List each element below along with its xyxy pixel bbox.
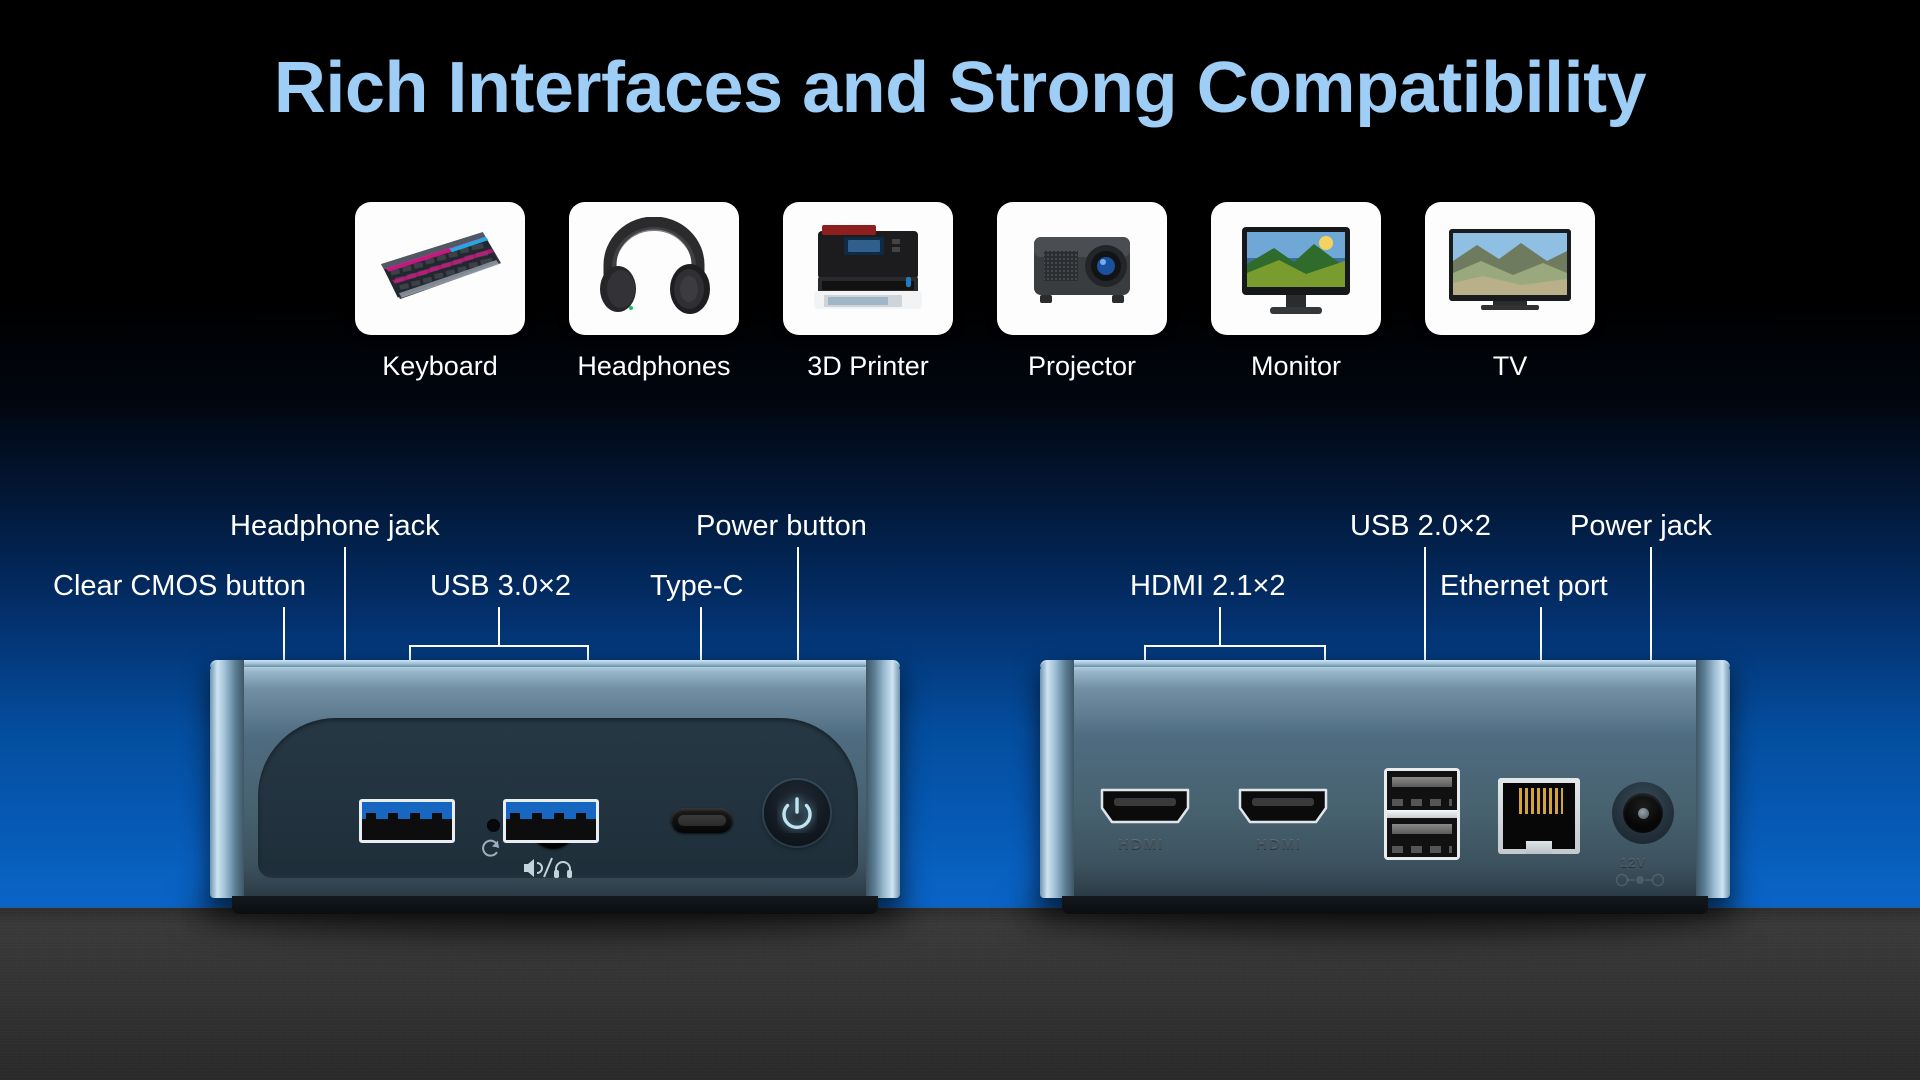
callout-clear-cmos-button: Clear CMOS button xyxy=(53,572,306,601)
monitor-icon xyxy=(1234,217,1358,321)
compat-item-3d-printer[interactable]: 3D Printer xyxy=(783,202,953,382)
compat-item-keyboard[interactable]: Keyboard xyxy=(355,202,525,382)
compat-label: Headphones xyxy=(577,351,730,382)
compat-item-headphones[interactable]: Headphones xyxy=(569,202,739,382)
chassis-top-lip xyxy=(1040,660,1730,667)
chassis-right-edge xyxy=(1696,660,1730,898)
callout-power-button: Power button xyxy=(696,512,867,541)
compat-item-projector[interactable]: Projector xyxy=(997,202,1167,382)
callout-type-c: Type-C xyxy=(650,572,743,601)
chassis-left-edge xyxy=(1040,660,1074,898)
callout-usb-3: USB 3.0×2 xyxy=(430,572,571,601)
callout-usb-2: USB 2.0×2 xyxy=(1350,512,1491,541)
hdmi-port-2-label: HDMI xyxy=(1256,836,1302,853)
compatibility-icon-row: Keyboard Headphones xyxy=(355,202,1575,382)
compat-label: Monitor xyxy=(1251,351,1341,382)
leader-usb3-bar xyxy=(409,645,589,647)
compat-label: Projector xyxy=(1028,351,1136,382)
projector-card xyxy=(997,202,1167,335)
front-chassis xyxy=(210,660,900,898)
monitor-card xyxy=(1211,202,1381,335)
usb3-port-1-tongue xyxy=(362,802,452,819)
front-device-foot xyxy=(232,896,878,914)
usb2-port-stack[interactable] xyxy=(1384,768,1460,860)
hdmi-port-2[interactable] xyxy=(1236,786,1330,826)
usb2-upper-pins xyxy=(1392,799,1452,806)
hdmi-port-1-label: HDMI xyxy=(1118,836,1164,853)
rj45-latch-notch xyxy=(1526,841,1552,854)
chassis-right-edge xyxy=(866,660,900,898)
type-c-port[interactable] xyxy=(671,808,733,833)
chassis-gloss xyxy=(1074,667,1696,735)
projector-icon xyxy=(1018,221,1146,317)
callout-hdmi: HDMI 2.1×2 xyxy=(1130,572,1286,601)
usb2-port-upper[interactable] xyxy=(1387,771,1457,810)
compat-item-monitor[interactable]: Monitor xyxy=(1211,202,1381,382)
headphones-icon xyxy=(594,217,714,321)
mini-pc-front-device xyxy=(210,660,900,910)
clear-cmos-reset-icon xyxy=(480,838,506,862)
rear-device-foot xyxy=(1062,896,1708,914)
usb3-port-2-tongue xyxy=(506,802,596,819)
rj45-gold-pins xyxy=(1519,788,1563,814)
power-button[interactable] xyxy=(764,780,830,846)
usb2-port-lower[interactable] xyxy=(1387,818,1457,857)
usb2-upper-tongue xyxy=(1392,777,1452,787)
tv-card xyxy=(1425,202,1595,335)
callout-power-jack: Power jack xyxy=(1570,512,1712,541)
compat-label: 3D Printer xyxy=(807,351,929,382)
usb2-divider xyxy=(1387,810,1457,818)
hdmi-port-1[interactable] xyxy=(1098,786,1192,826)
audio-speaker-headphone-icon xyxy=(522,856,584,880)
product-infographic: Rich Interfaces and Strong Compatibility xyxy=(0,0,1920,1080)
usb3-port-2[interactable] xyxy=(503,799,599,843)
usb2-lower-pins xyxy=(1392,846,1452,853)
power-jack-barrel xyxy=(1623,793,1663,833)
callout-ethernet-port: Ethernet port xyxy=(1440,572,1608,601)
usb3-port-1[interactable] xyxy=(359,799,455,843)
power-jack-center-pin xyxy=(1638,808,1649,819)
compat-label: TV xyxy=(1493,351,1528,382)
headphones-card xyxy=(569,202,739,335)
clear-cmos-pinhole[interactable] xyxy=(487,819,500,832)
printer-card xyxy=(783,202,953,335)
ethernet-rj45-port[interactable] xyxy=(1498,778,1580,854)
power-jack-port[interactable] xyxy=(1612,782,1674,844)
usb2-lower-tongue xyxy=(1392,824,1452,834)
keyboard-icon xyxy=(370,219,510,319)
chassis-top-lip xyxy=(210,660,900,667)
background-floor xyxy=(0,908,1920,1080)
leader-hdmi-bar xyxy=(1144,645,1326,647)
power-symbol-icon xyxy=(777,793,817,833)
power-jack-voltage-label: 12V xyxy=(1620,855,1646,870)
rj45-cavity xyxy=(1503,783,1575,849)
mini-pc-rear-device: HDMI HDMI xyxy=(1040,660,1730,910)
rear-chassis: HDMI HDMI xyxy=(1040,660,1730,898)
power-polarity-icon xyxy=(1614,871,1666,889)
page-title: Rich Interfaces and Strong Compatibility xyxy=(0,52,1920,124)
callout-headphone-jack: Headphone jack xyxy=(230,512,440,541)
leader-hdmi-stem xyxy=(1219,607,1221,647)
compat-item-tv[interactable]: TV xyxy=(1425,202,1595,382)
leader-usb3-stem xyxy=(498,607,500,647)
chassis-left-edge xyxy=(210,660,244,898)
tv-icon xyxy=(1443,221,1577,317)
hdmi-port-1-shape xyxy=(1098,786,1192,826)
keyboard-card xyxy=(355,202,525,335)
printer-icon xyxy=(804,217,932,321)
hdmi-port-2-shape xyxy=(1236,786,1330,826)
compat-label: Keyboard xyxy=(382,351,498,382)
